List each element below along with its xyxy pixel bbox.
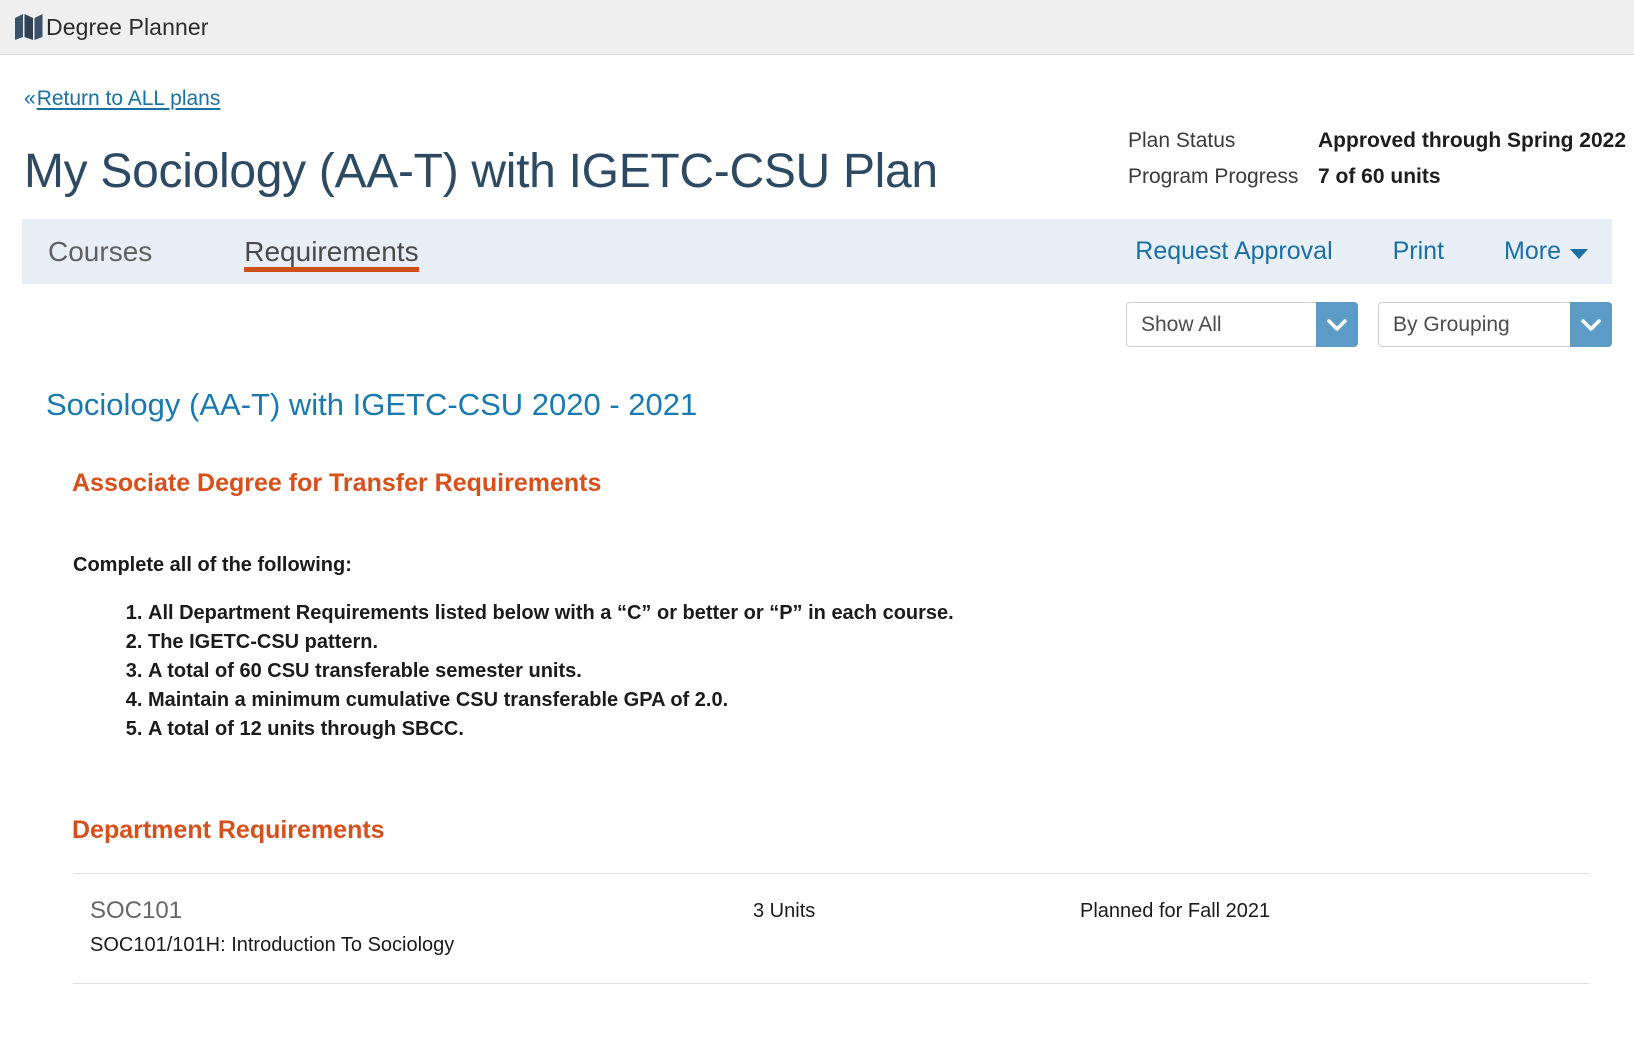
double-chevron-left-icon: « [24,87,36,111]
course-main-cell: SOC101 SOC101/101H: Introduction To Soci… [73,896,753,957]
course-table: SOC101 SOC101/101H: Introduction To Soci… [73,873,1590,984]
grouping-filter-value: By Grouping [1378,302,1570,347]
page-title: My Sociology (AA-T) with IGETC-CSU Plan [24,147,938,197]
program-title[interactable]: Sociology (AA-T) with IGETC-CSU 2020 - 2… [46,387,1612,423]
program-progress-row: Program Progress 7 of 60 units [1128,165,1628,189]
more-label: More [1504,237,1561,266]
requirements-content: Sociology (AA-T) with IGETC-CSU 2020 - 2… [0,387,1634,984]
requirement-item: Maintain a minimum cumulative CSU transf… [148,686,1612,715]
course-code: SOC101 [90,896,753,926]
grouping-filter-arrow[interactable] [1570,302,1612,347]
requirement-item: A total of 12 units through SBCC. [148,715,1612,744]
complete-all-text: Complete all of the following: [73,554,1612,577]
plan-header: My Sociology (AA-T) with IGETC-CSU Plan … [0,129,1634,197]
section-heading-department: Department Requirements [72,816,1612,845]
requirement-item: A total of 60 CSU transferable semester … [148,657,1612,686]
plan-status-label: Plan Status [1128,129,1318,153]
plan-status-row: Plan Status Approved through Spring 2022 [1128,129,1628,153]
requirement-item: All Department Requirements listed below… [148,599,1612,628]
grouping-filter-select[interactable]: By Grouping [1378,302,1612,347]
show-filter-arrow[interactable] [1316,302,1358,347]
return-to-all-plans-link[interactable]: «Return to ALL plans [24,87,220,111]
plan-status-value: Approved through Spring 2022 [1318,129,1626,153]
request-approval-label: Request Approval [1135,237,1332,266]
app-header: Degree Planner [0,0,1634,55]
show-filter-select[interactable]: Show All [1126,302,1358,347]
chevron-down-icon [1570,249,1588,259]
section-heading-adt: Associate Degree for Transfer Requiremen… [72,469,1612,498]
app-title: Degree Planner [46,14,209,41]
chevron-down-icon [1580,318,1602,332]
request-approval-button[interactable]: Request Approval [1135,237,1332,266]
program-progress-label: Program Progress [1128,165,1318,189]
requirements-list: All Department Requirements listed below… [122,599,1612,744]
chevron-down-icon [1326,318,1348,332]
breadcrumb: «Return to ALL plans [0,55,1634,111]
map-icon [14,13,44,41]
program-progress-value: 7 of 60 units [1318,165,1441,189]
print-label: Print [1393,237,1444,266]
plan-status-block: Plan Status Approved through Spring 2022… [1128,129,1628,189]
filter-bar: Show All By Grouping [0,302,1634,347]
more-menu-button[interactable]: More [1504,237,1588,266]
print-button[interactable]: Print [1393,237,1444,266]
show-filter-value: Show All [1126,302,1316,347]
tab-actions: Request Approval Print More [1075,237,1588,266]
tab-bar: Courses Requirements Request Approval Pr… [22,219,1612,284]
requirement-item: The IGETC-CSU pattern. [148,628,1612,657]
course-units: 3 Units [753,896,1053,923]
course-status: Planned for Fall 2021 [1053,896,1590,923]
table-row[interactable]: SOC101 SOC101/101H: Introduction To Soci… [73,874,1590,984]
tab-courses[interactable]: Courses [48,219,152,284]
return-link-label: Return to ALL plans [37,87,221,110]
course-name: SOC101/101H: Introduction To Sociology [90,934,753,957]
tab-requirements[interactable]: Requirements [244,219,418,284]
